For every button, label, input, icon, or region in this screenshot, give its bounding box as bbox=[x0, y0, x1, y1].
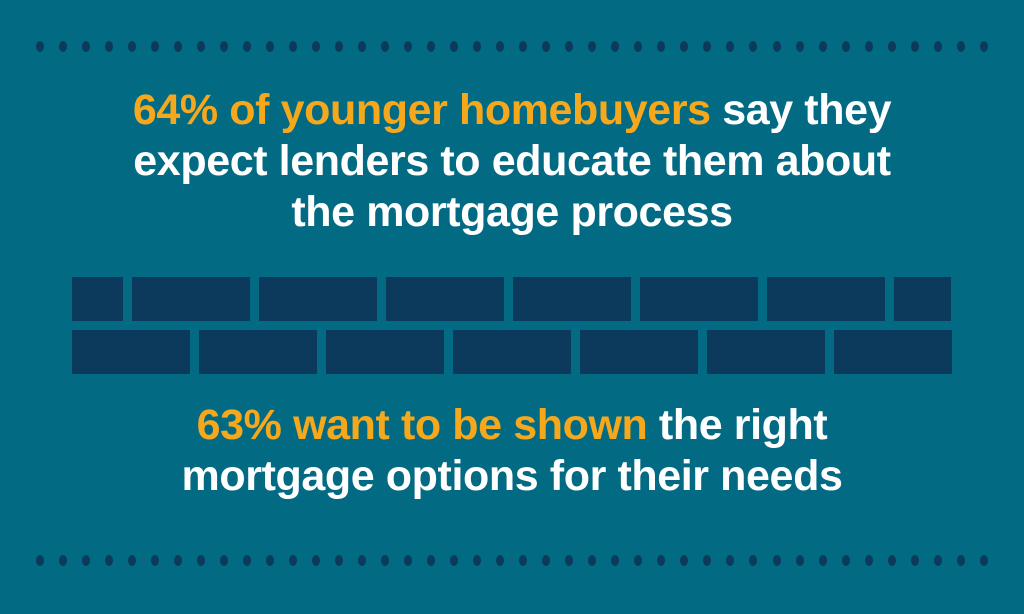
divider-dot bbox=[657, 555, 665, 566]
bottom-dotted-divider bbox=[36, 554, 988, 566]
brick bbox=[894, 277, 951, 321]
divider-dot bbox=[358, 41, 366, 52]
divider-dot bbox=[980, 555, 988, 566]
brick bbox=[453, 330, 571, 374]
divider-dot bbox=[381, 41, 389, 52]
brick bbox=[767, 277, 885, 321]
divider-dot bbox=[197, 555, 205, 566]
infographic-canvas: 64% of younger homebuyers say they expec… bbox=[0, 0, 1024, 614]
divider-dot bbox=[819, 555, 827, 566]
brick bbox=[513, 277, 631, 321]
divider-dot bbox=[404, 555, 412, 566]
divider-dot bbox=[289, 555, 297, 566]
divider-dot bbox=[174, 41, 182, 52]
divider-dot bbox=[680, 41, 688, 52]
divider-dot bbox=[427, 555, 435, 566]
divider-dot bbox=[266, 41, 274, 52]
divider-dot bbox=[588, 41, 596, 52]
divider-dot bbox=[957, 41, 965, 52]
divider-dot bbox=[519, 555, 527, 566]
divider-dot bbox=[128, 41, 136, 52]
divider-dot bbox=[335, 555, 343, 566]
divider-dot bbox=[312, 555, 320, 566]
divider-dot bbox=[565, 555, 573, 566]
divider-dot bbox=[312, 41, 320, 52]
divider-dot bbox=[888, 41, 896, 52]
brick bbox=[834, 330, 952, 374]
divider-dot bbox=[865, 555, 873, 566]
divider-dot bbox=[289, 41, 297, 52]
divider-dot bbox=[796, 555, 804, 566]
divider-dot bbox=[151, 555, 159, 566]
divider-dot bbox=[496, 555, 504, 566]
brick bbox=[132, 277, 250, 321]
divider-dot bbox=[220, 41, 228, 52]
divider-dot bbox=[703, 41, 711, 52]
divider-dot bbox=[473, 41, 481, 52]
divider-dot bbox=[266, 555, 274, 566]
divider-dot bbox=[243, 555, 251, 566]
divider-dot bbox=[36, 41, 44, 52]
divider-dot bbox=[220, 555, 228, 566]
divider-dot bbox=[542, 555, 550, 566]
divider-dot bbox=[427, 41, 435, 52]
top-dotted-divider bbox=[36, 40, 988, 52]
divider-dot bbox=[726, 41, 734, 52]
subhead-text-block: 63% want to be shown the right mortgage … bbox=[0, 400, 1024, 502]
divider-dot bbox=[496, 41, 504, 52]
divider-dot bbox=[634, 555, 642, 566]
divider-dot bbox=[980, 41, 988, 52]
divider-dot bbox=[105, 555, 113, 566]
headline-line-1-rest: say they bbox=[711, 86, 891, 134]
divider-dot bbox=[611, 555, 619, 566]
brick bbox=[259, 277, 377, 321]
headline-line-1: 64% of younger homebuyers say they bbox=[0, 85, 1024, 136]
divider-dot bbox=[358, 555, 366, 566]
headline-text-block: 64% of younger homebuyers say they expec… bbox=[0, 85, 1024, 238]
divider-dot bbox=[565, 41, 573, 52]
divider-dot bbox=[105, 41, 113, 52]
brick bbox=[707, 330, 825, 374]
divider-dot bbox=[888, 555, 896, 566]
brick bbox=[72, 277, 123, 321]
divider-dot bbox=[197, 41, 205, 52]
divider-dot bbox=[381, 555, 389, 566]
headline-stat-64: 64% of younger homebuyers bbox=[133, 86, 711, 134]
divider-dot bbox=[611, 41, 619, 52]
divider-dot bbox=[911, 555, 919, 566]
divider-dot bbox=[842, 555, 850, 566]
divider-dot bbox=[796, 41, 804, 52]
brick bbox=[640, 277, 758, 321]
subhead-stat-63: 63% want to be shown bbox=[197, 401, 648, 449]
headline-line-2: expect lenders to educate them about bbox=[0, 136, 1024, 187]
divider-dot bbox=[773, 41, 781, 52]
brick bbox=[326, 330, 444, 374]
headline-line-3: the mortgage process bbox=[0, 187, 1024, 238]
divider-dot bbox=[82, 555, 90, 566]
divider-dot bbox=[473, 555, 481, 566]
divider-dot bbox=[542, 41, 550, 52]
divider-dot bbox=[680, 555, 688, 566]
divider-dot bbox=[703, 555, 711, 566]
brick-row bbox=[72, 330, 952, 374]
brick bbox=[580, 330, 698, 374]
divider-dot bbox=[865, 41, 873, 52]
subhead-line-2: mortgage options for their needs bbox=[0, 451, 1024, 502]
divider-dot bbox=[657, 41, 665, 52]
divider-dot bbox=[726, 555, 734, 566]
divider-dot bbox=[519, 41, 527, 52]
brick bbox=[72, 330, 190, 374]
divider-dot bbox=[634, 41, 642, 52]
divider-dot bbox=[842, 41, 850, 52]
brick-wall-graphic bbox=[72, 277, 952, 374]
divider-dot bbox=[335, 41, 343, 52]
brick bbox=[199, 330, 317, 374]
divider-dot bbox=[151, 41, 159, 52]
divider-dot bbox=[243, 41, 251, 52]
divider-dot bbox=[82, 41, 90, 52]
divider-dot bbox=[934, 555, 942, 566]
divider-dot bbox=[174, 555, 182, 566]
divider-dot bbox=[819, 41, 827, 52]
divider-dot bbox=[450, 41, 458, 52]
divider-dot bbox=[749, 555, 757, 566]
divider-dot bbox=[59, 41, 67, 52]
divider-dot bbox=[59, 555, 67, 566]
divider-dot bbox=[934, 41, 942, 52]
divider-dot bbox=[749, 41, 757, 52]
brick-row bbox=[72, 277, 952, 321]
divider-dot bbox=[36, 555, 44, 566]
brick bbox=[386, 277, 504, 321]
divider-dot bbox=[773, 555, 781, 566]
divider-dot bbox=[911, 41, 919, 52]
divider-dot bbox=[957, 555, 965, 566]
divider-dot bbox=[450, 555, 458, 566]
divider-dot bbox=[588, 555, 596, 566]
divider-dot bbox=[128, 555, 136, 566]
divider-dot bbox=[404, 41, 412, 52]
subhead-line-1-rest: the right bbox=[647, 401, 827, 449]
subhead-line-1: 63% want to be shown the right bbox=[0, 400, 1024, 451]
